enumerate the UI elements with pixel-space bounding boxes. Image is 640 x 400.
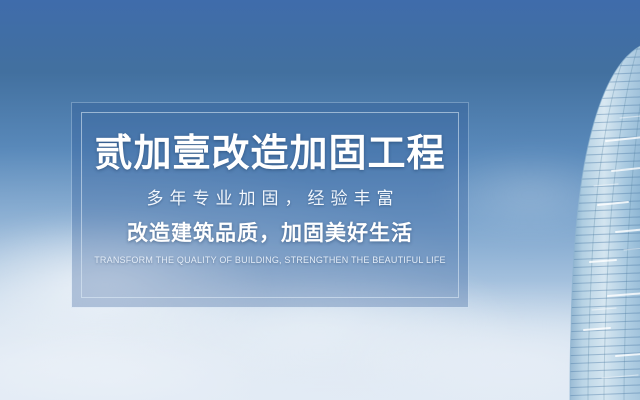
- tagline-primary: 多年专业加固，经验丰富: [141, 188, 400, 210]
- panel-content: 贰加壹改造加固工程 多年专业加固，经验丰富 改造建筑品质，加固美好生活 TRAN…: [72, 103, 468, 307]
- skyscraper-image: [520, 0, 640, 400]
- banner-stage: 贰加壹改造加固工程 多年专业加固，经验丰富 改造建筑品质，加固美好生活 TRAN…: [0, 0, 640, 400]
- tagline-secondary: 改造建筑品质，加固美好生活: [127, 221, 413, 247]
- hero-text-panel: 贰加壹改造加固工程 多年专业加固，经验丰富 改造建筑品质，加固美好生活 TRAN…: [72, 103, 468, 307]
- page-title: 贰加壹改造加固工程: [94, 133, 445, 175]
- skyscraper-icon: [520, 0, 640, 400]
- tagline-english: TRANSFORM THE QUALITY OF BUILDING, STREN…: [94, 254, 446, 266]
